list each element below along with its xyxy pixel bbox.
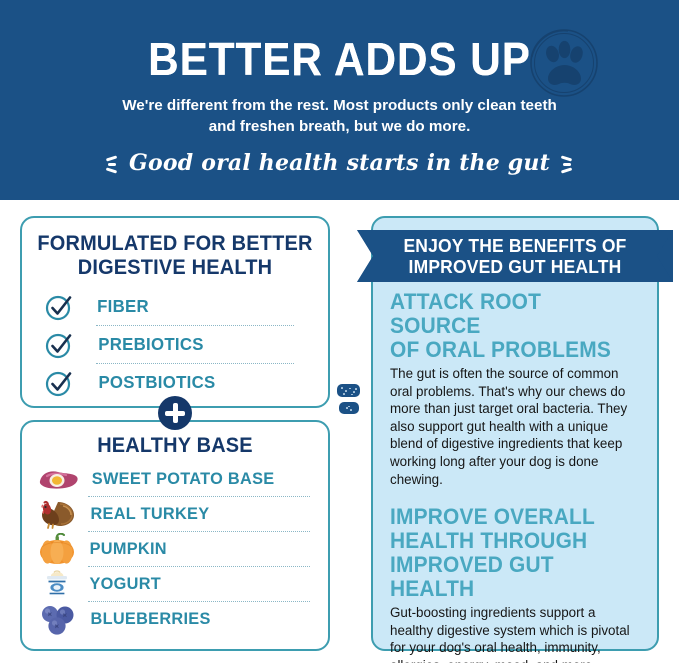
list-item: SWEET POTATO BASE (36, 462, 314, 496)
list-item: PUMPKIN (36, 532, 314, 566)
flourish-right-icon (560, 153, 574, 173)
page-title: BETTER ADDS UP (27, 34, 652, 84)
pumpkin-icon (36, 533, 80, 565)
formulated-title-line1: FORMULATED FOR BETTER (30, 232, 321, 256)
list-item-label: BLUEBERRIES (91, 609, 211, 629)
check-circle-icon (40, 330, 78, 360)
dental-chew-icon (339, 402, 359, 414)
list-item-label: PUMPKIN (90, 539, 167, 559)
header-subtitle-line1: We're different from the rest. Most prod… (70, 95, 609, 116)
dental-chew-icon (337, 384, 360, 397)
header-subtitle-line2: and freshen breath, but we do more. (70, 116, 609, 137)
formulated-card-title: FORMULATED FOR BETTER DIGESTIVE HEALTH (30, 232, 321, 280)
benefits-ribbon: ENJOY THE BENEFITS OF IMPROVED GUT HEALT… (357, 230, 673, 282)
section-heading-line1: IMPROVE OVERALL (390, 505, 628, 529)
ribbon-line2: IMPROVED GUT HEALTH (409, 256, 622, 277)
section-heading-line1: ATTACK ROOT SOURCE (390, 290, 628, 338)
benefits-ribbon-text: ENJOY THE BENEFITS OF IMPROVED GUT HEALT… (365, 230, 665, 282)
header-band: BETTER ADDS UP We're different from the … (0, 0, 679, 200)
header-tagline-row: Good oral health starts in the gut (0, 150, 679, 176)
formulated-list: FIBER PREBIOTICS (22, 288, 328, 401)
list-item-label: FIBER (97, 296, 149, 317)
header-subtitle: We're different from the rest. Most prod… (70, 95, 609, 137)
flourish-left-icon (105, 153, 119, 173)
list-item-label: PREBIOTICS (98, 334, 204, 355)
formulated-title-line2: DIGESTIVE HEALTH (30, 256, 321, 280)
healthy-base-card: HEALTHY BASE SWEET POTATO BASE (20, 420, 330, 651)
list-item-label: REAL TURKEY (90, 504, 209, 524)
ribbon-line1: ENJOY THE BENEFITS OF (403, 235, 626, 256)
section-body: Gut-boosting ingredients support a healt… (390, 604, 640, 663)
healthy-base-title: HEALTHY BASE (30, 434, 321, 458)
section-heading-line2: OF ORAL PROBLEMS (390, 338, 628, 362)
yogurt-cup-icon (36, 568, 80, 600)
list-item: YOGURT (36, 567, 314, 601)
list-item-label: POSTBIOTICS (98, 372, 215, 393)
infographic-page: BETTER ADDS UP We're different from the … (0, 0, 679, 663)
blueberries-icon (36, 603, 80, 635)
benefits-panel-content: ATTACK ROOT SOURCE OF ORAL PROBLEMS The … (373, 218, 657, 663)
turkey-icon (36, 498, 80, 530)
section-heading: ATTACK ROOT SOURCE OF ORAL PROBLEMS (390, 290, 628, 362)
header-tagline: Good oral health starts in the gut (129, 150, 550, 176)
list-item-label: YOGURT (89, 574, 161, 594)
check-circle-icon (40, 368, 78, 398)
benefit-section-improve-overall-health: IMPROVE OVERALL HEALTH THROUGH IMPROVED … (390, 505, 640, 663)
section-heading: IMPROVE OVERALL HEALTH THROUGH IMPROVED … (390, 505, 628, 601)
healthy-base-list: SWEET POTATO BASE (22, 462, 328, 636)
sweet-potato-icon (36, 463, 80, 495)
section-heading-line2: HEALTH THROUGH (390, 529, 628, 553)
list-item: FIBER (40, 288, 310, 325)
section-body: The gut is often the source of common or… (390, 365, 640, 488)
list-item: PREBIOTICS (40, 326, 310, 363)
section-spacer (390, 488, 640, 505)
list-item: BLUEBERRIES (36, 602, 314, 636)
plus-icon (158, 396, 192, 430)
check-circle-icon (40, 292, 78, 322)
benefit-section-attack-root-source: ATTACK ROOT SOURCE OF ORAL PROBLEMS The … (390, 290, 640, 488)
list-item-label: SWEET POTATO BASE (92, 469, 275, 489)
list-item: REAL TURKEY (36, 497, 314, 531)
formulated-card: FORMULATED FOR BETTER DIGESTIVE HEALTH F… (20, 216, 330, 408)
section-heading-line3: IMPROVED GUT HEALTH (390, 553, 628, 601)
